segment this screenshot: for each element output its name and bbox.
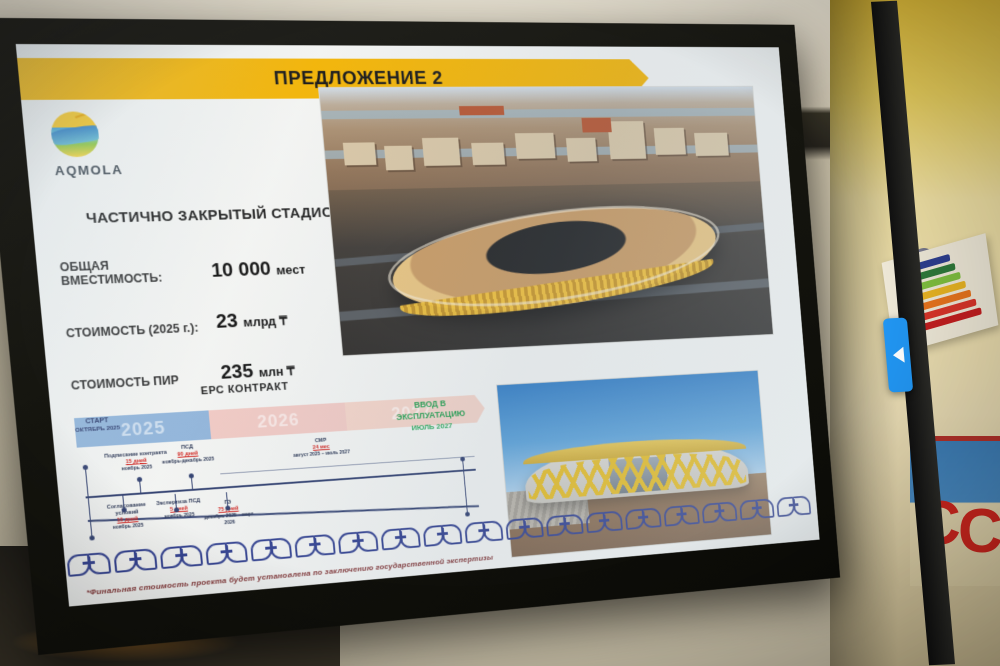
spec-number: 235 <box>220 361 254 384</box>
screen-panel[interactable]: ПРЕДЛОЖЕНИЕ 2 AQMOLA ЧАСТИЧНО ЗАКРЫТЫЙ С… <box>16 44 820 607</box>
timeline-node <box>137 477 142 482</box>
spec-unit: млн ₸ <box>258 363 295 379</box>
spec-unit: мест <box>276 262 306 277</box>
brand-logo: AQMOLA <box>49 111 177 178</box>
spec-row: ОБЩАЯ ВМЕСТИМОСТЬ: 10 000 мест <box>59 251 374 289</box>
display-screen[interactable]: ПРЕДЛОЖЕНИЕ 2 AQMOLA ЧАСТИЧНО ЗАКРЫТЫЙ С… <box>0 0 930 666</box>
spec-value: 10 000 мест <box>210 257 306 282</box>
presentation-slide: ПРЕДЛОЖЕНИЕ 2 AQMOLA ЧАСТИЧНО ЗАКРЫТЫЙ С… <box>16 44 820 607</box>
triangle-left-icon <box>892 347 904 363</box>
timeline-node <box>83 465 89 470</box>
end-date: ИЮЛЬ 2027 <box>388 420 476 435</box>
year-label: 2025 <box>120 417 166 440</box>
slide-subtitle: ЧАСТИЧНО ЗАКРЫТЫЙ СТАДИОН <box>85 204 344 227</box>
spec-unit: млрд ₸ <box>243 313 288 329</box>
end-label: ВВОД В ЭКСПЛУАТАЦИЮ <box>396 399 466 422</box>
spec-value: 23 млрд ₸ <box>215 309 288 334</box>
item-dates: декабрь 2025 – март 2026 <box>198 511 260 528</box>
photo-scene: С С ПРЕДЛОЖЕНИЕ 2 <box>0 0 1000 666</box>
stadium-aerial-render <box>318 86 774 357</box>
timeline-node <box>189 473 194 478</box>
timeline-node <box>89 535 95 540</box>
timeline-start-marker: СТАРТ ОКТЯБРЬ 2025 <box>74 416 120 436</box>
spec-label: ОБЩАЯ ВМЕСТИМОСТЬ: <box>59 256 212 288</box>
spec-number: 23 <box>215 311 239 333</box>
timeline-end-marker: ВВОД В ЭКСПЛУАТАЦИЮ ИЮЛЬ 2027 <box>386 397 476 435</box>
spec-label: СТОИМОСТЬ ПИР <box>70 371 222 393</box>
year-band: 2026 <box>208 403 347 440</box>
brand-name: AQMOLA <box>54 161 177 178</box>
spec-row: СТОИМОСТЬ (2025 г.): 23 млрд ₸ <box>65 305 379 341</box>
screen-bezel: ПРЕДЛОЖЕНИЕ 2 AQMOLA ЧАСТИЧНО ЗАКРЫТЫЙ С… <box>0 18 840 655</box>
stadium-site <box>328 181 773 355</box>
spec-number: 10 000 <box>210 259 271 282</box>
timeline-node <box>460 457 465 462</box>
spec-label: СТОИМОСТЬ (2025 г.): <box>65 320 217 340</box>
year-label: 2026 <box>256 409 300 432</box>
timeline-item-above: СМР 24 мес август 2025 – июль 2027 <box>282 436 359 461</box>
timeline-item-below: ГЭ 75 дней декабрь 2025 – март 2026 <box>197 498 260 529</box>
aqmola-emblem-icon <box>49 111 100 157</box>
timeline-node <box>465 512 470 517</box>
timeline-item-above: ПСД 90 дней ноябрь-декабрь 2025 <box>156 443 219 467</box>
